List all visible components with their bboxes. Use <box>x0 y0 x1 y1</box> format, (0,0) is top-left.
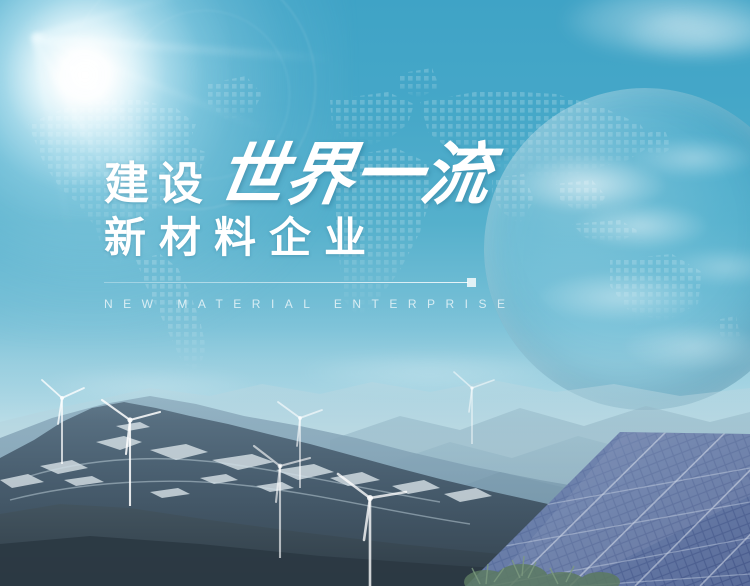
headline-line-1: 建设 世界一流 <box>104 131 524 209</box>
subtitle: NEW MATERIAL ENTERPRISE <box>104 297 524 311</box>
headline-accent: 世界一流 <box>213 141 496 209</box>
banner-stage: 建设 世界一流 新材料企业 NEW MATERIAL ENTERPRISE <box>0 0 750 586</box>
headline-line-2: 新材料企业 <box>104 215 524 261</box>
headline-primary: 建设 <box>104 161 212 206</box>
wind-turbine <box>34 376 90 464</box>
solar-panel-array <box>450 426 750 586</box>
wind-turbine <box>330 468 410 586</box>
wind-turbine <box>96 394 166 506</box>
divider-cap <box>467 278 476 287</box>
headline-block: 建设 世界一流 新材料企业 NEW MATERIAL ENTERPRISE <box>104 131 524 311</box>
wind-turbine <box>272 396 328 488</box>
divider <box>104 282 468 283</box>
